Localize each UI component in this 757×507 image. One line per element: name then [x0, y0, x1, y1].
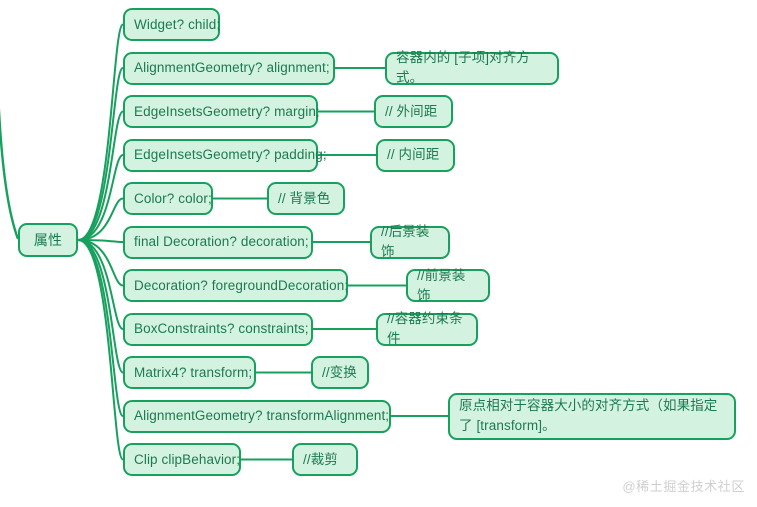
- mindmap-node-branch[interactable]: final Decoration? decoration;: [123, 226, 313, 259]
- mindmap-node-branch[interactable]: Widget? child;: [123, 8, 220, 41]
- mindmap-node-branch[interactable]: Matrix4? transform;: [123, 356, 256, 389]
- mindmap-node-branch[interactable]: EdgeInsetsGeometry? margin;: [123, 95, 318, 128]
- mindmap-root-node[interactable]: 属性: [18, 223, 78, 257]
- mindmap-node-note[interactable]: 容器内的 [子项]对齐方式。: [385, 52, 559, 85]
- mindmap-node-branch[interactable]: BoxConstraints? constraints;: [123, 313, 313, 346]
- mindmap-node-branch[interactable]: Color? color;: [123, 182, 213, 215]
- mindmap-node-note[interactable]: //变换: [311, 356, 369, 389]
- mindmap-node-note[interactable]: 原点相对于容器大小的对齐方式（如果指定了 [transform]。: [448, 393, 736, 440]
- mindmap-node-note[interactable]: //前景装饰: [406, 269, 490, 302]
- mindmap-node-branch[interactable]: AlignmentGeometry? alignment;: [123, 52, 335, 85]
- mindmap-node-branch[interactable]: Decoration? foregroundDecoration;: [123, 269, 348, 302]
- mindmap-node-branch[interactable]: Clip clipBehavior;: [123, 443, 241, 476]
- mindmap-node-note[interactable]: // 外间距: [374, 95, 453, 128]
- mindmap-node-note[interactable]: //容器约束条件: [376, 313, 478, 346]
- mindmap-node-note[interactable]: // 内间距: [376, 139, 455, 172]
- mindmap-node-note[interactable]: //裁剪: [292, 443, 358, 476]
- mindmap-canvas: 属性 Widget? child;AlignmentGeometry? alig…: [0, 0, 757, 507]
- mindmap-node-note[interactable]: //后景装饰: [370, 226, 450, 259]
- watermark: @稀土掘金技术社区: [622, 476, 745, 495]
- mindmap-node-branch[interactable]: EdgeInsetsGeometry? padding;: [123, 139, 318, 172]
- mindmap-node-note[interactable]: // 背景色: [267, 182, 345, 215]
- mindmap-node-branch[interactable]: AlignmentGeometry? transformAlignment;: [123, 400, 391, 433]
